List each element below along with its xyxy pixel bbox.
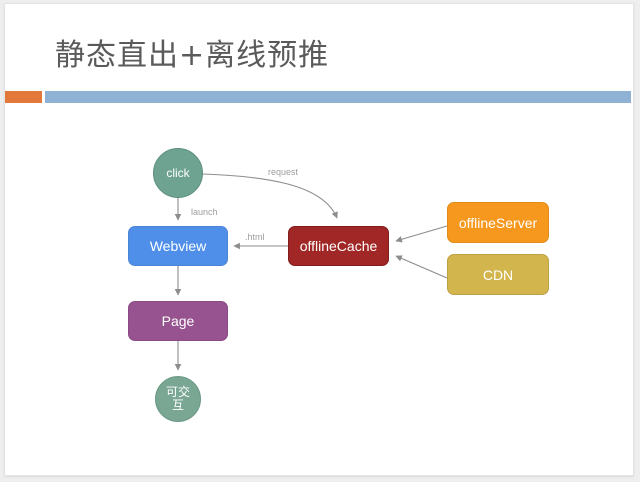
node-offlinecache-label: offlineCache bbox=[300, 238, 378, 254]
node-page[interactable]: Page bbox=[128, 301, 228, 341]
flowchart-diagram: click Webview Page 可交互 offlineCache offl… bbox=[5, 4, 634, 476]
node-offlinecache[interactable]: offlineCache bbox=[288, 226, 389, 266]
slide-canvas: 静态直出+离线预推 cli bbox=[4, 3, 634, 476]
node-page-label: Page bbox=[162, 313, 195, 329]
node-cdn-label: CDN bbox=[483, 267, 513, 283]
node-webview-label: Webview bbox=[150, 238, 207, 254]
edge-label-html: .html bbox=[245, 232, 265, 242]
node-offlineserver-label: offlineServer bbox=[459, 215, 537, 231]
node-interactive-label: 可交互 bbox=[165, 386, 191, 412]
edge-label-launch: launch bbox=[191, 207, 218, 217]
node-click[interactable]: click bbox=[153, 148, 203, 198]
node-offlineserver[interactable]: offlineServer bbox=[447, 202, 549, 243]
edge-click-to-offlinecache bbox=[201, 174, 337, 218]
node-interactive[interactable]: 可交互 bbox=[155, 376, 201, 422]
node-webview[interactable]: Webview bbox=[128, 226, 228, 266]
node-cdn[interactable]: CDN bbox=[447, 254, 549, 295]
edge-label-request: request bbox=[268, 167, 298, 177]
node-click-label: click bbox=[166, 167, 189, 180]
edge-cdn-to-offlinecache bbox=[396, 256, 447, 278]
edge-offlineserver-to-offlinecache bbox=[396, 226, 447, 241]
